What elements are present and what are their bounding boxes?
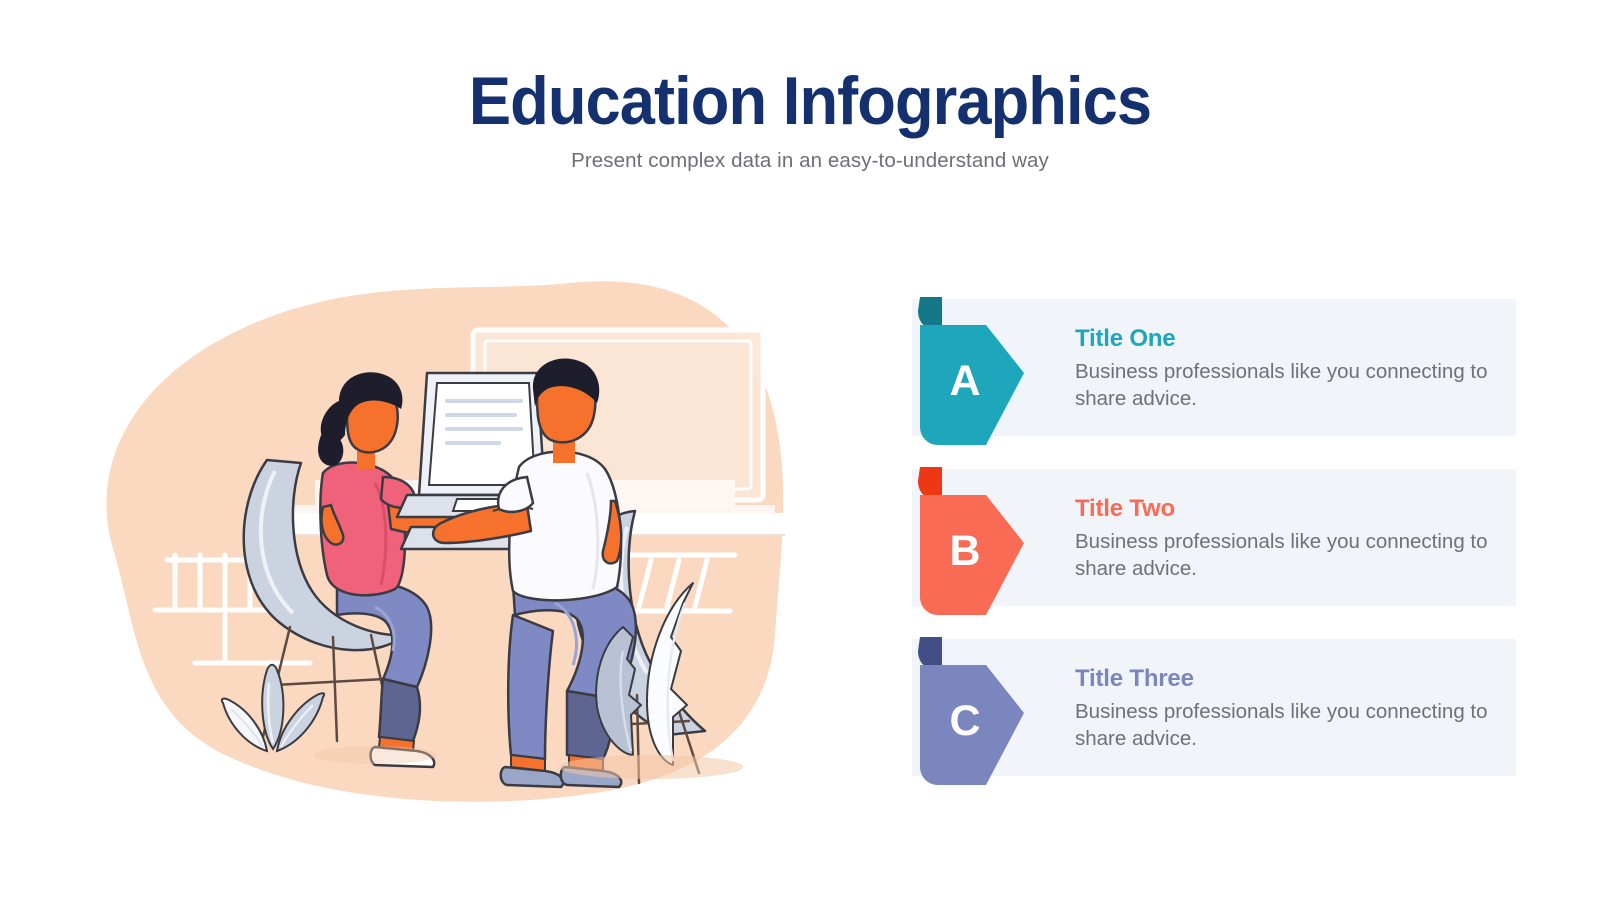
man-leg-left <box>508 615 553 759</box>
badge-a[interactable]: A <box>912 297 1030 449</box>
card-row[interactable]: C Title Three Business professionals lik… <box>912 639 1516 776</box>
floor-shadow <box>559 755 743 779</box>
illustration-people-at-desk <box>75 255 865 825</box>
page-title: Education Infographics <box>57 66 1564 137</box>
badge-b[interactable]: B <box>912 467 1030 619</box>
card-list: A Title One Business professionals like … <box>912 299 1516 809</box>
badge-fold-c <box>918 637 942 669</box>
card-text-c: Title Three Business professionals like … <box>1075 665 1495 753</box>
card-title-a: Title One <box>1075 325 1495 353</box>
card-description-b: Business professionals like you connecti… <box>1075 528 1495 583</box>
card-row[interactable]: B Title Two Business professionals like … <box>912 469 1516 606</box>
card-row[interactable]: A Title One Business professionals like … <box>912 299 1516 436</box>
card-text-b: Title Two Business professionals like yo… <box>1075 495 1495 583</box>
badge-fold-b <box>918 467 942 499</box>
badge-fold-a <box>918 297 942 329</box>
page-subtitle: Present complex data in an easy-to-under… <box>0 149 1620 173</box>
card-title-c: Title Three <box>1075 665 1495 693</box>
woman-lower-leg <box>379 679 420 741</box>
badge-shape-c <box>920 665 1024 785</box>
card-description-a: Business professionals like you connecti… <box>1075 358 1495 413</box>
card-title-b: Title Two <box>1075 495 1495 523</box>
badge-shape-b <box>920 495 1024 615</box>
badge-shape-a <box>920 325 1024 445</box>
card-text-a: Title One Business professionals like yo… <box>1075 325 1495 413</box>
badge-c[interactable]: C <box>912 637 1030 789</box>
card-description-c: Business professionals like you connecti… <box>1075 698 1495 753</box>
header: Education Infographics Present complex d… <box>0 0 1620 173</box>
